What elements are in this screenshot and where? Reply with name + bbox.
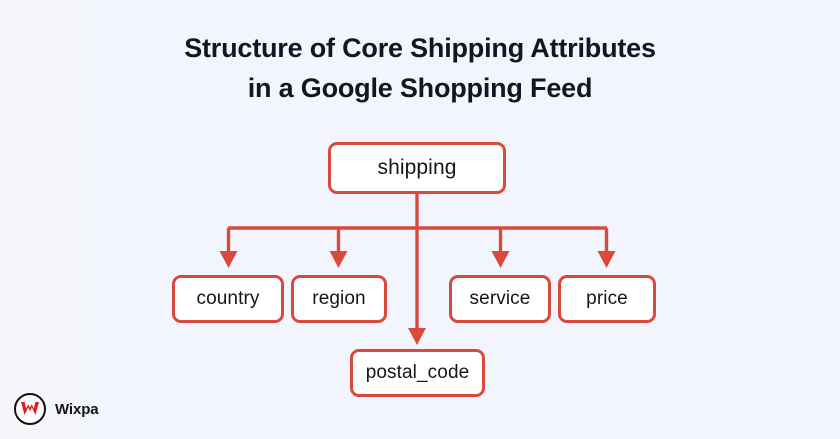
- arrowhead-postal-code: [408, 328, 426, 345]
- arrowhead-service: [492, 251, 510, 268]
- arrowhead-country: [220, 251, 238, 268]
- brand-name: Wixpa: [55, 401, 99, 418]
- infographic-canvas: Structure of Core Shipping Attributes in…: [0, 0, 840, 439]
- node-price-label: price: [586, 288, 628, 310]
- node-price[interactable]: price: [558, 275, 656, 323]
- node-country[interactable]: country: [172, 275, 284, 323]
- brand-logo[interactable]: Wixpa: [14, 393, 99, 425]
- node-shipping[interactable]: shipping: [328, 142, 506, 194]
- arrowhead-region: [330, 251, 348, 268]
- node-region[interactable]: region: [291, 275, 387, 323]
- node-country-label: country: [196, 288, 259, 310]
- node-service-label: service: [470, 288, 531, 310]
- node-postal-code-label: postal_code: [366, 362, 470, 384]
- node-shipping-label: shipping: [377, 156, 456, 180]
- wixpa-logo-icon: [14, 393, 46, 425]
- arrowhead-price: [598, 251, 616, 268]
- node-service[interactable]: service: [449, 275, 551, 323]
- node-postal-code[interactable]: postal_code: [350, 349, 485, 397]
- node-region-label: region: [312, 288, 365, 310]
